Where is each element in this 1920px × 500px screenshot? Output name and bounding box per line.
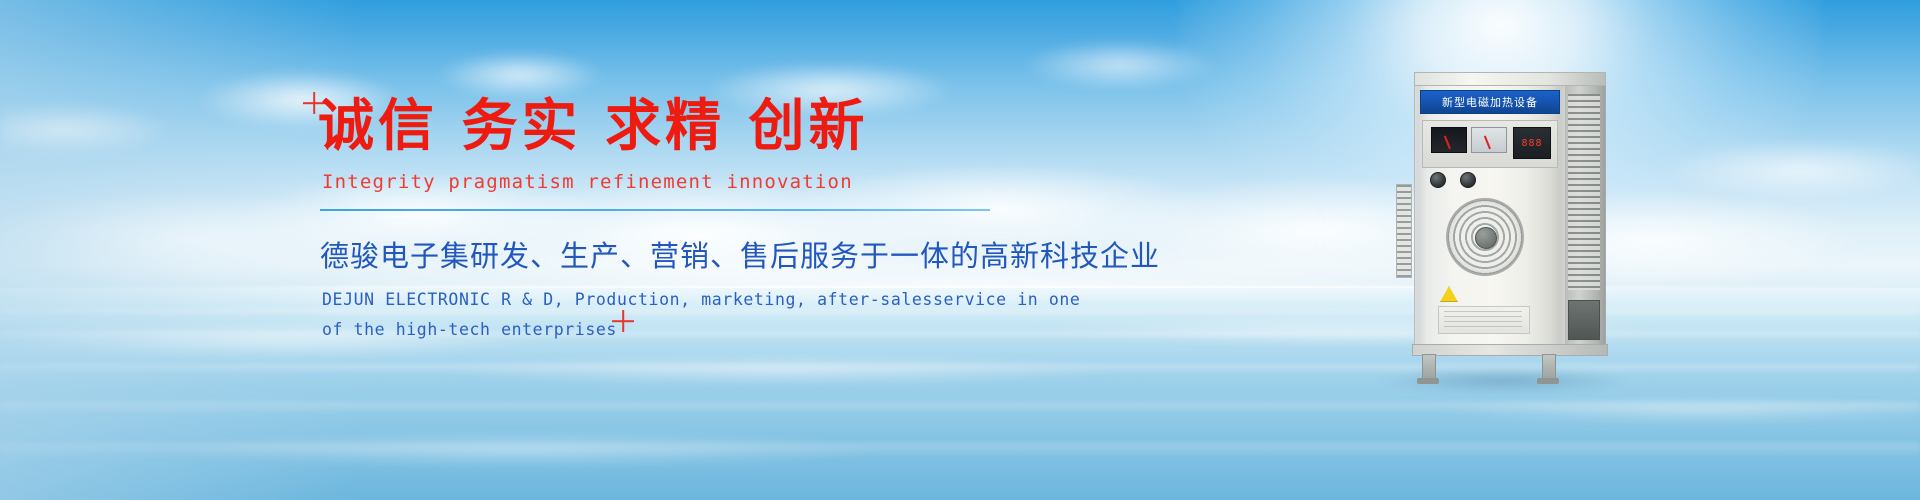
cabinet-base: [1412, 344, 1608, 356]
cabinet-top-cap: [1414, 72, 1606, 86]
meter-needle-icon: [1484, 136, 1491, 150]
knob-row: [1426, 172, 1552, 188]
left-ventilation-slots-icon: [1396, 184, 1412, 278]
left-vignette: [0, 0, 360, 500]
meter-needle-icon: [1444, 136, 1451, 150]
side-ventilation-slots-icon: [1568, 94, 1600, 290]
cooling-fan-grille-icon: [1446, 198, 1524, 276]
control-knob-icon-2: [1460, 172, 1476, 188]
divider-rule: [320, 209, 990, 211]
fan-hub-icon: [1475, 227, 1497, 249]
digital-display-value: 888: [1521, 138, 1542, 149]
product-name-label: 新型电磁加热设备: [1420, 90, 1560, 114]
digital-display: 888: [1513, 127, 1551, 159]
headline-chinese: 诚信 务实 求精 创新: [318, 96, 1038, 159]
analog-meter-left-icon: [1431, 127, 1467, 153]
lower-side-vent-icon: [1568, 300, 1600, 340]
description-chinese: 德骏电子集研发、生产、营销、售后服务于一体的高新科技企业: [320, 233, 1038, 275]
control-knob-icon-1: [1430, 172, 1446, 188]
analog-meter-right-icon: [1471, 127, 1507, 153]
banner-copy-block: 诚信 务实 求精 创新 Integrity pragmatism refinem…: [318, 96, 1038, 346]
description-english-line1: DEJUN ELECTRONIC R & D, Production, mark…: [322, 285, 1038, 316]
description-english-line2: of the high-tech enterprises: [322, 315, 1038, 346]
product-shadow: [1378, 368, 1628, 394]
cabinet-foot-left: [1417, 378, 1439, 384]
product-name-label-text: 新型电磁加热设备: [1442, 94, 1538, 110]
specification-plate-text-lines: [1444, 311, 1522, 327]
product-image-induction-heater: 新型电磁加热设备 888: [1392, 72, 1612, 384]
headline-english: Integrity pragmatism refinement innovati…: [322, 171, 1038, 193]
cabinet-foot-right: [1537, 378, 1559, 384]
control-panel: 888: [1422, 120, 1558, 168]
company-culture-banner: 诚信 务实 求精 创新 Integrity pragmatism refinem…: [0, 0, 1920, 500]
